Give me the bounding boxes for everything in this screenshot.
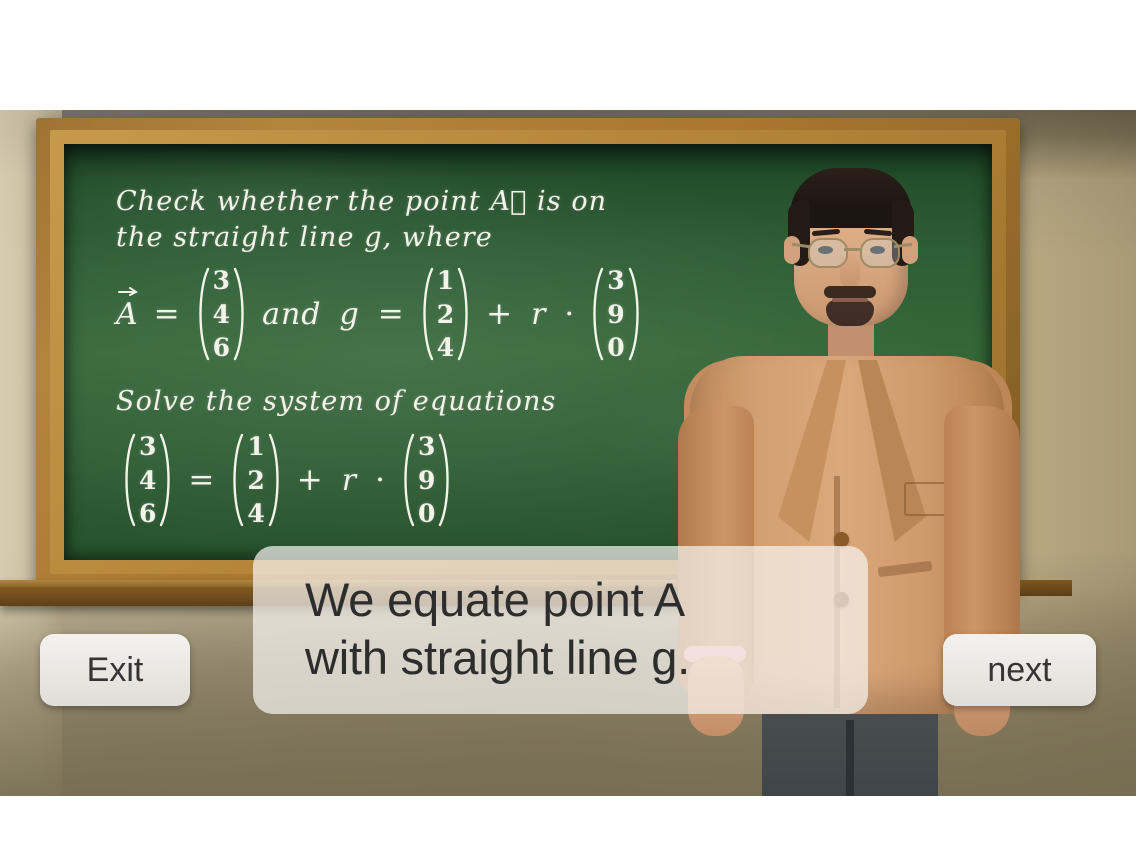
vector-component: 6	[213, 335, 230, 360]
goatee	[826, 300, 874, 326]
column-vector-point-a: 3 4 6	[190, 266, 253, 362]
paren-left-icon	[399, 432, 415, 528]
vector-values: 3 4 6	[210, 268, 233, 360]
caption-line-1: We equate point A	[305, 571, 868, 629]
paren-right-icon	[438, 432, 454, 528]
app-stage: Check whether the point A⃗ is on the str…	[0, 0, 1136, 852]
vector-component: 6	[139, 501, 156, 526]
jacket-button-top	[834, 532, 849, 547]
paren-right-icon	[159, 432, 175, 528]
vector-component: 3	[213, 268, 230, 293]
vector-values: 3 4 6	[136, 434, 159, 526]
narration-caption: We equate point A with straight line g.	[253, 546, 868, 714]
glasses-bridge	[844, 248, 860, 251]
equation-definition: A = 3 4 6	[116, 266, 648, 362]
vector-component: 4	[437, 335, 454, 360]
equals-sign-system: =	[179, 462, 224, 498]
vector-component: 0	[607, 335, 624, 360]
parameter-r-system: r	[333, 463, 366, 498]
plus-sign-system: +	[288, 462, 333, 498]
column-vector-support-system: 1 2 4	[224, 432, 287, 528]
instruction-line: Solve the system of equations	[116, 386, 556, 417]
vector-a-letter: A	[116, 297, 139, 332]
next-button[interactable]: next	[943, 634, 1096, 706]
vector-component: 3	[139, 434, 156, 459]
caption-line-2: with straight line g.	[305, 629, 868, 687]
exit-button[interactable]: Exit	[40, 634, 190, 706]
vector-component: 3	[418, 434, 435, 459]
plus-sign: +	[477, 296, 522, 332]
vector-component: 4	[139, 468, 156, 493]
vector-component: 3	[607, 268, 624, 293]
equals-sign-2: =	[369, 296, 414, 332]
nose	[840, 256, 860, 288]
and-word: and	[253, 297, 330, 332]
vector-component: 4	[213, 302, 230, 327]
question-line-1: Check whether the point A⃗ is on	[116, 186, 607, 217]
vector-values: 3 9 0	[415, 434, 438, 526]
vector-arrow-icon	[118, 284, 138, 296]
vector-component: 2	[247, 468, 264, 493]
equals-sign-1: =	[145, 296, 190, 332]
paren-left-icon	[588, 266, 604, 362]
paren-left-icon	[120, 432, 136, 528]
moustache	[824, 286, 876, 298]
multiplication-dot: ·	[555, 296, 584, 332]
paren-right-icon	[233, 266, 249, 362]
vector-values: 3 9 0	[604, 268, 627, 360]
column-vector-support: 1 2 4	[414, 266, 477, 362]
mouth	[832, 298, 868, 302]
vector-component: 1	[437, 268, 454, 293]
classroom-scene: Check whether the point A⃗ is on the str…	[0, 110, 1136, 796]
vector-component: 9	[418, 468, 435, 493]
paren-left-icon	[418, 266, 434, 362]
vector-component: 0	[418, 501, 435, 526]
trouser-seam	[846, 720, 854, 796]
multiplication-dot-system: ·	[366, 462, 395, 498]
line-g-symbol: g	[330, 297, 368, 332]
vector-component: 2	[437, 302, 454, 327]
glasses-lens-right	[860, 238, 900, 268]
vector-a-symbol: A	[116, 297, 145, 332]
column-vector-point-a-system: 3 4 6	[116, 432, 179, 528]
paren-right-icon	[268, 432, 284, 528]
ear-left	[784, 236, 800, 264]
vector-component: 4	[247, 501, 264, 526]
column-vector-direction: 3 9 0	[584, 266, 647, 362]
vector-component: 1	[247, 434, 264, 459]
question-line-2: the straight line g, where	[116, 222, 493, 253]
vector-component: 9	[607, 302, 624, 327]
vector-values: 1 2 4	[244, 434, 267, 526]
parameter-r: r	[522, 297, 555, 332]
vector-values: 1 2 4	[434, 268, 457, 360]
ear-right	[902, 236, 918, 264]
equation-system: 3 4 6 =	[116, 432, 458, 528]
paren-right-icon	[457, 266, 473, 362]
paren-left-icon	[228, 432, 244, 528]
column-vector-direction-system: 3 9 0	[395, 432, 458, 528]
paren-right-icon	[628, 266, 644, 362]
paren-left-icon	[194, 266, 210, 362]
